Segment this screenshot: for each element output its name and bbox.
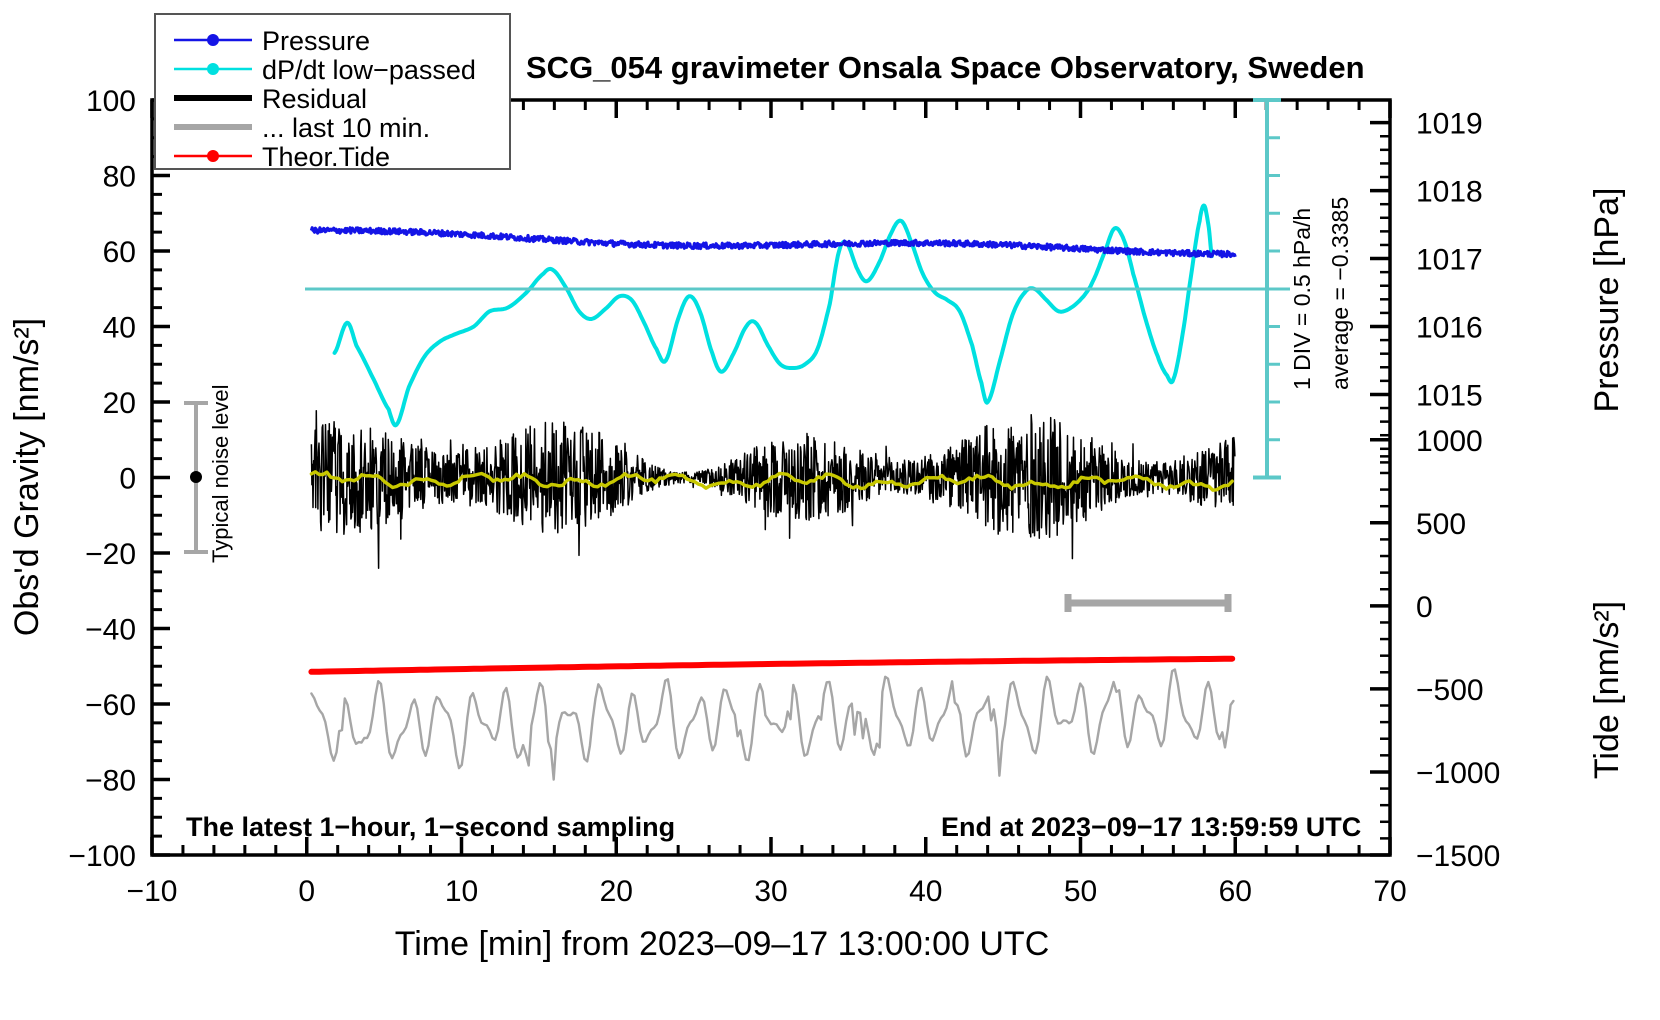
y-tick-label: −20 xyxy=(85,538,136,571)
x-tick-label: 60 xyxy=(1219,875,1252,908)
legend-marker xyxy=(207,63,219,75)
y-tick-label: −60 xyxy=(85,689,136,722)
tide-tick-label: −500 xyxy=(1416,674,1484,707)
x-tick-label: 40 xyxy=(909,875,942,908)
legend-label: Theor.Tide xyxy=(262,142,390,172)
y-tick-label: 40 xyxy=(103,312,136,345)
pressure-tick-label: 1015 xyxy=(1416,379,1483,412)
tide-tick-label: 1000 xyxy=(1416,425,1483,458)
x-tick-label: −10 xyxy=(127,875,178,908)
legend-marker xyxy=(207,150,219,162)
dpdt-average-note: average = −0.3385 xyxy=(1327,197,1353,390)
y-tick-label: −100 xyxy=(68,840,136,873)
y-tick-label: 60 xyxy=(103,236,136,269)
x-tick-label: 20 xyxy=(600,875,633,908)
legend-label: Residual xyxy=(262,84,367,114)
y-tick-label: 0 xyxy=(119,463,136,496)
typical-noise-label: Typical noise level xyxy=(208,384,233,563)
y-tick-label: 80 xyxy=(103,161,136,194)
pressure-tick-label: 1019 xyxy=(1416,108,1483,141)
y-axis-title: Obs'd Gravity [nm/s²] xyxy=(8,318,46,636)
y-tick-label: 20 xyxy=(103,387,136,420)
x-tick-label: 50 xyxy=(1064,875,1097,908)
legend-marker xyxy=(207,34,219,46)
sampling-note: The latest 1−hour, 1−second sampling xyxy=(186,812,675,842)
legend-label: ... last 10 min. xyxy=(262,113,430,143)
legend[interactable]: PressuredP/dt low−passedResidual... last… xyxy=(155,14,510,172)
y-tick-label: −80 xyxy=(85,765,136,798)
x-tick-label: 10 xyxy=(445,875,478,908)
tide-tick-label: 500 xyxy=(1416,508,1466,541)
pressure-tick-label: 1018 xyxy=(1416,176,1483,209)
end-time-note: End at 2023−09−17 13:59:59 UTC xyxy=(941,812,1361,842)
y2-axis-title: Pressure [hPa] xyxy=(1588,188,1626,413)
page-title: SCG_054 gravimeter Onsala Space Observat… xyxy=(526,50,1365,85)
legend-label: Pressure xyxy=(262,26,370,56)
chart-page: −10010203040506070 −100−80−60−40−2002040… xyxy=(0,0,1660,1020)
x-tick-label: 0 xyxy=(298,875,315,908)
tide-tick-label: −1500 xyxy=(1416,840,1500,873)
x-axis-title: Time [min] from 2023–09–17 13:00:00 UTC xyxy=(395,925,1050,963)
pressure-tick-label: 1016 xyxy=(1416,312,1483,345)
tide-tick-label: 0 xyxy=(1416,591,1433,624)
gravimeter-chart: −10010203040506070 −100−80−60−40−2002040… xyxy=(0,0,1660,1020)
x-tick-label: 70 xyxy=(1373,875,1406,908)
legend-label: dP/dt low−passed xyxy=(262,55,476,85)
y-tick-label: −40 xyxy=(85,614,136,647)
x-tick-label: 30 xyxy=(754,875,787,908)
y3-axis-title: Tide [nm/s²] xyxy=(1588,601,1626,779)
pressure-tick-label: 1017 xyxy=(1416,244,1483,277)
dpdt-div-note: 1 DIV = 0.5 hPa/h xyxy=(1289,208,1315,390)
y-tick-label: 100 xyxy=(86,85,136,118)
tide-tick-label: −1000 xyxy=(1416,757,1500,790)
